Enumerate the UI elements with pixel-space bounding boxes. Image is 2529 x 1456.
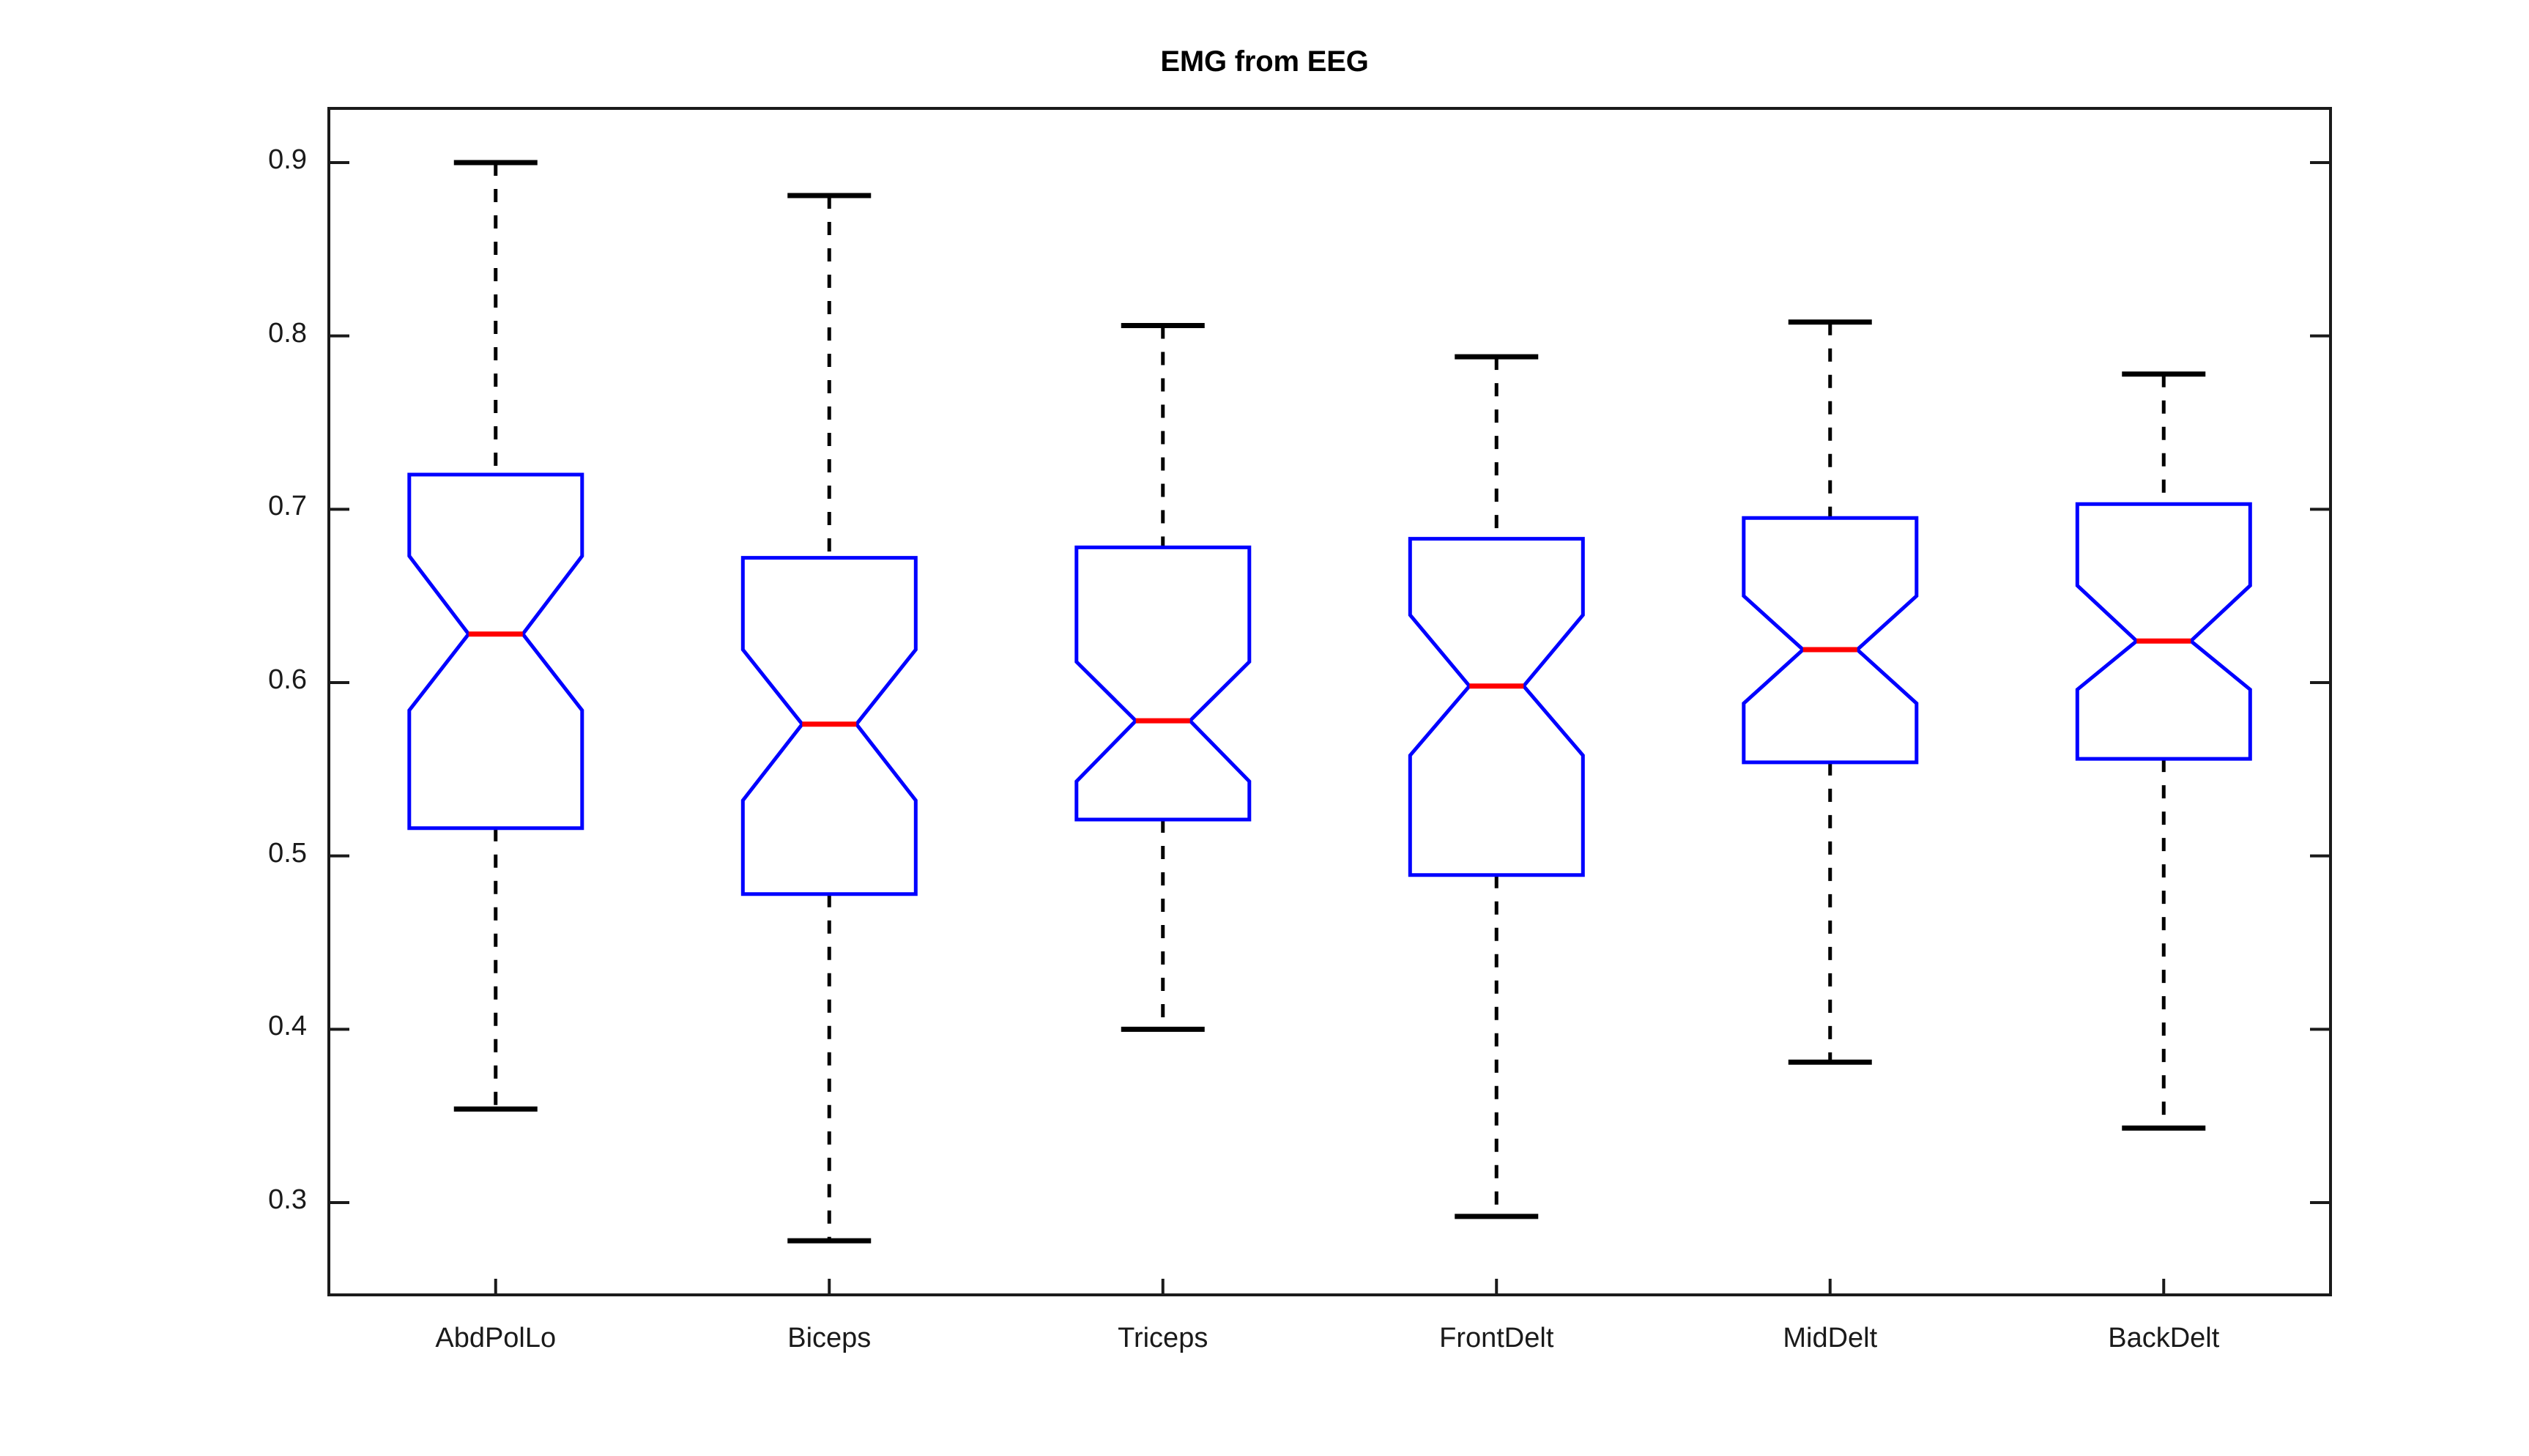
box-outline (409, 475, 582, 828)
box-outline (2077, 504, 2250, 759)
y-tick-label-2: 0.7 (219, 491, 307, 522)
y-tick-label-5: 0.4 (219, 1011, 307, 1042)
y-tick-label-3: 0.6 (219, 664, 307, 696)
box-series-layer (409, 163, 2251, 1241)
box-outline (1077, 547, 1249, 820)
y-tick-label-0: 0.9 (219, 144, 307, 176)
box-MidDelt[interactable] (1744, 322, 1917, 1063)
x-tick-label-backdelt: BackDelt (1995, 1323, 2332, 1354)
x-tick-label-middelt: MidDelt (1662, 1323, 1999, 1354)
y-tick-marks (329, 163, 2331, 1295)
box-BackDelt[interactable] (2077, 374, 2250, 1129)
boxplot-svg (0, 0, 2529, 1456)
box-outline (1410, 539, 1583, 875)
x-tick-label-triceps: Triceps (995, 1323, 1332, 1354)
box-outline (1744, 518, 1917, 762)
axis-box (329, 108, 2331, 1295)
x-tick-label-abdpollo: AbdPolLo (327, 1323, 664, 1354)
box-Biceps[interactable] (743, 196, 916, 1241)
x-tick-label-biceps: Biceps (661, 1323, 998, 1354)
box-Triceps[interactable] (1077, 325, 1249, 1029)
figure-canvas: EMG from EEG 0.90.80.70.60.50.40.3 AbdPo… (0, 0, 2529, 1456)
y-tick-label-4: 0.5 (219, 838, 307, 869)
y-tick-label-1: 0.8 (219, 318, 307, 349)
box-FrontDelt[interactable] (1410, 357, 1583, 1217)
x-tick-label-frontdelt: FrontDelt (1328, 1323, 1665, 1354)
box-AbdPolLo[interactable] (409, 163, 582, 1109)
y-tick-label-6: 0.3 (219, 1184, 307, 1216)
axis-frame (329, 108, 2331, 1295)
